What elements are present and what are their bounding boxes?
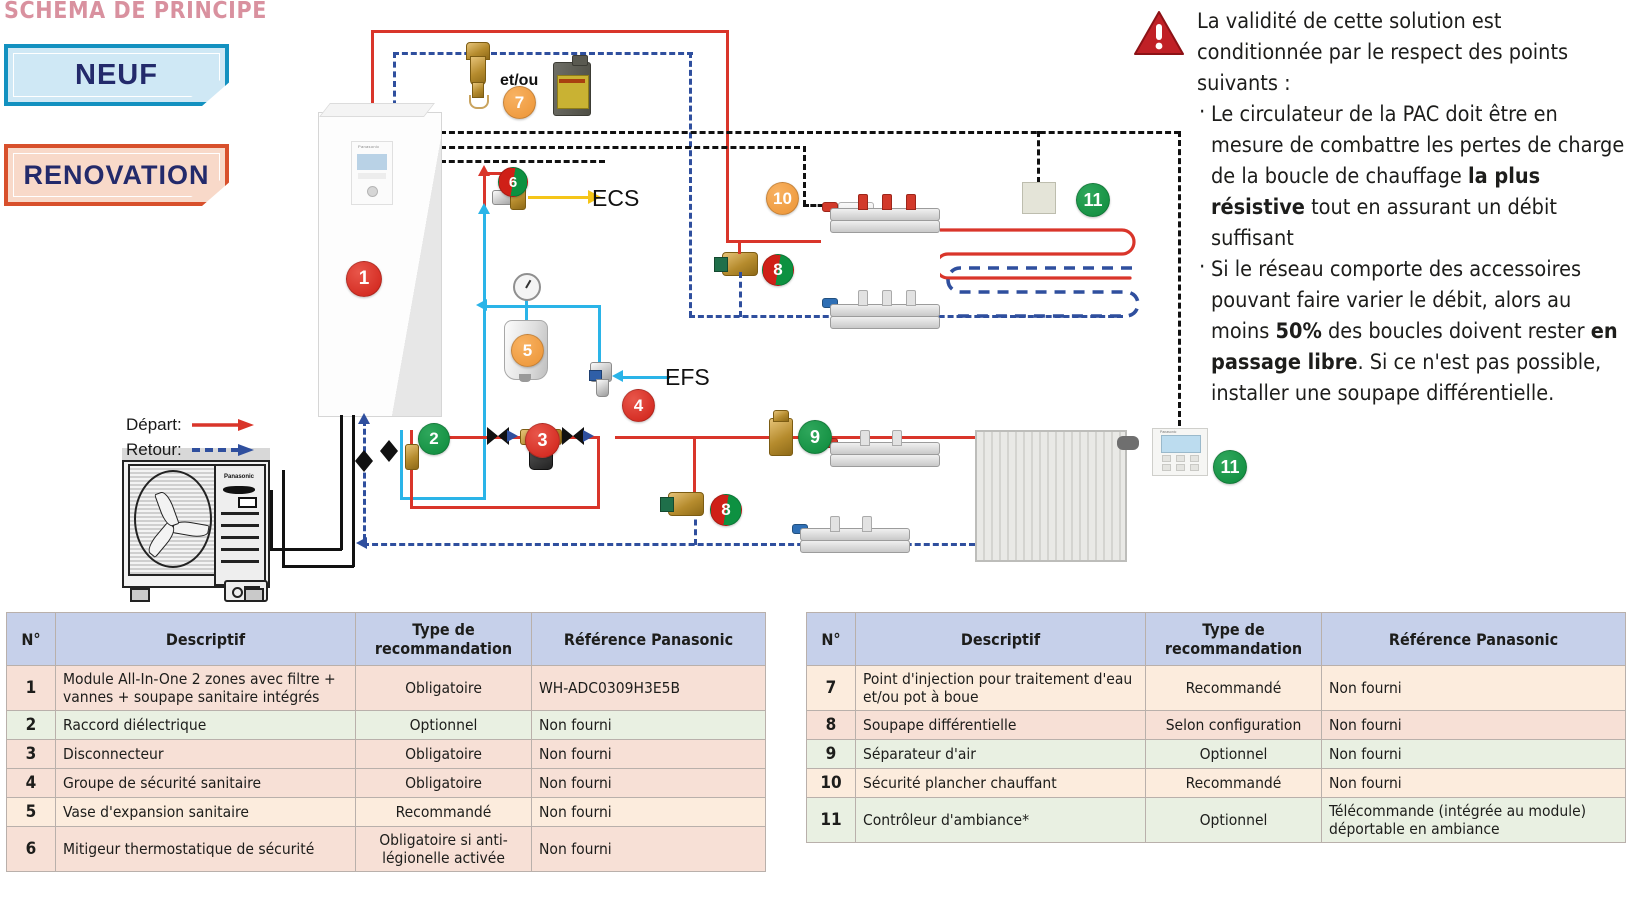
controller-button-6[interactable] bbox=[1190, 464, 1199, 471]
table-row: 11Contrôleur d'ambiance*OptionnelTélécom… bbox=[807, 798, 1626, 843]
th-right-rec: Type derecommandation bbox=[1146, 613, 1322, 666]
legend-row-retour: Retour: bbox=[126, 437, 254, 462]
th-left-num: N° bbox=[7, 613, 56, 666]
cell-rec: Recommandé bbox=[1146, 666, 1322, 711]
th-right-ref: Référence Panasonic bbox=[1322, 613, 1626, 666]
legend-retour-label: Retour: bbox=[126, 437, 188, 462]
outdoor-unit-brand-label: Panasonic bbox=[224, 474, 254, 480]
dirt-separator-loop bbox=[469, 95, 489, 109]
legend-row-depart: Départ: bbox=[126, 412, 254, 437]
arrow-return-left-bottom bbox=[356, 537, 367, 549]
arrow-efs-left bbox=[612, 370, 623, 382]
table-left-body: 1Module All-In-One 2 zones avec filtre +… bbox=[7, 666, 766, 872]
badge-11b: 11 bbox=[1213, 450, 1247, 484]
cell-desc: Contrôleur d'ambiance* bbox=[856, 798, 1146, 843]
legend-depart-label: Départ: bbox=[126, 412, 188, 437]
water-treatment-bottle bbox=[553, 62, 591, 116]
cell-ref: Non fourni bbox=[532, 827, 766, 872]
th-right-desc: Descriptif bbox=[856, 613, 1146, 666]
tag-renovation: RENOVATION bbox=[4, 144, 229, 206]
badge-9: 9 bbox=[798, 420, 832, 454]
pipe-heat-red-lower-left bbox=[410, 506, 600, 509]
safety-group-drain bbox=[596, 379, 609, 397]
cell-num: 8 bbox=[807, 711, 856, 740]
pipe-return-blue-vertical-right bbox=[689, 52, 692, 317]
cell-num: 6 bbox=[7, 827, 56, 872]
manifold-return-bar-bottom bbox=[830, 316, 940, 329]
badge-3: 3 bbox=[525, 423, 560, 458]
arrow-return-up-left bbox=[358, 413, 370, 424]
manifold-flow-port-3 bbox=[906, 194, 916, 210]
cell-num: 10 bbox=[807, 769, 856, 798]
pipe-hp-black-bottom-1 bbox=[282, 565, 354, 568]
aio-brand-label: Panasonic bbox=[358, 144, 379, 149]
cell-rec: Obligatoire si anti-légionelle activée bbox=[356, 827, 532, 872]
cell-ref: Non fourni bbox=[532, 769, 766, 798]
tag-neuf-label: NEUF bbox=[75, 59, 158, 92]
wiring-dashed-to-controller bbox=[1178, 131, 1181, 426]
pipe-cold-cyan-horizontal bbox=[483, 305, 601, 308]
cell-num: 1 bbox=[7, 666, 56, 711]
controller-display bbox=[1161, 435, 1201, 453]
arrow-cold-up bbox=[478, 203, 490, 214]
th-left-rec: Type derecommandation bbox=[356, 613, 532, 666]
cell-rec: Recommandé bbox=[1146, 769, 1322, 798]
th-left-ref: Référence Panasonic bbox=[532, 613, 766, 666]
cell-ref: Télécommande (intégrée au module) déport… bbox=[1322, 798, 1626, 843]
pipe-return-blue-left-riser bbox=[363, 420, 366, 540]
cell-ref: Non fourni bbox=[532, 798, 766, 827]
outdoor-unit-fan bbox=[134, 470, 212, 568]
pipe-heat-red-riser-mid bbox=[597, 436, 600, 508]
legend-retour-arrow-icon bbox=[192, 443, 254, 457]
cell-ref: Non fourni bbox=[1322, 769, 1626, 798]
manifold-radiator-flow bbox=[830, 436, 938, 462]
badge-2: 2 bbox=[418, 423, 450, 455]
label-efs: EFS bbox=[665, 364, 710, 391]
table-left: N° Descriptif Type derecommandation Réfé… bbox=[6, 612, 766, 872]
cell-rec: Selon configuration bbox=[1146, 711, 1322, 740]
cell-desc: Séparateur d'air bbox=[856, 740, 1146, 769]
table-row: 4Groupe de sécurité sanitaireObligatoire… bbox=[7, 769, 766, 798]
table-row: 2Raccord diélectriqueOptionnelNon fourni bbox=[7, 711, 766, 740]
wiring-dashed-1 bbox=[440, 131, 1180, 134]
table-row: 1Module All-In-One 2 zones avec filtre +… bbox=[7, 666, 766, 711]
table-row: 7Point d'injection pour traitement d'eau… bbox=[807, 666, 1626, 711]
controller-button-3[interactable] bbox=[1190, 455, 1199, 462]
cell-ref: Non fourni bbox=[1322, 666, 1626, 711]
butterfly-valve-right-a bbox=[562, 427, 573, 445]
wiring-dashed-2 bbox=[440, 146, 800, 149]
radiator bbox=[975, 430, 1127, 562]
cell-desc: Mitigeur thermostatique de sécurité bbox=[56, 827, 356, 872]
cell-num: 11 bbox=[807, 798, 856, 843]
table-right-body: 7Point d'injection pour traitement d'eau… bbox=[807, 666, 1626, 843]
cell-desc: Point d'injection pour traitement d'eau … bbox=[856, 666, 1146, 711]
room-sensor-box bbox=[1022, 182, 1056, 214]
legend-depart-arrow-icon bbox=[192, 418, 254, 432]
butterfly-valve-left-a bbox=[487, 427, 498, 445]
manifold-ufh-flow bbox=[830, 196, 938, 228]
pressure-gauge bbox=[513, 273, 541, 301]
label-ecs: ECS bbox=[592, 185, 639, 212]
cell-ref: Non fourni bbox=[1322, 740, 1626, 769]
table-right: N° Descriptif Type derecommandation Réfé… bbox=[806, 612, 1626, 843]
arrow-small-blue-2 bbox=[583, 430, 594, 442]
pipe-hp-black-bottom-2 bbox=[270, 548, 342, 551]
badge-7: 7 bbox=[503, 86, 536, 119]
manifold-rad-flow-port-1 bbox=[860, 430, 870, 446]
wall-controller: Panasonic bbox=[1152, 428, 1208, 476]
warning-bullet-list: Le circulateur de la PAC doit être en me… bbox=[1197, 99, 1625, 409]
warning-triangle-icon bbox=[1133, 10, 1185, 58]
ufh-loop-blue bbox=[940, 256, 1145, 326]
wiring-dashed-to-floor-safety bbox=[803, 146, 806, 206]
badge-8b: 8 bbox=[710, 494, 742, 526]
badge-6: 6 bbox=[498, 167, 528, 197]
cell-num: 4 bbox=[7, 769, 56, 798]
controller-button-2[interactable] bbox=[1176, 455, 1185, 462]
manifold-rad-return-port-1 bbox=[830, 516, 840, 532]
pipe-heat-red-to-diffvalve bbox=[693, 436, 696, 492]
cell-desc: Raccord diélectrique bbox=[56, 711, 356, 740]
cell-desc: Module All-In-One 2 zones avec filtre + … bbox=[56, 666, 356, 711]
cell-num: 7 bbox=[807, 666, 856, 711]
controller-button-5[interactable] bbox=[1176, 464, 1185, 471]
pipe-return-blue-top bbox=[393, 52, 693, 55]
warning-intro: La validité de cette solution est condit… bbox=[1197, 6, 1625, 99]
manifold-flow-bar-bottom bbox=[830, 220, 940, 233]
pipe-cold-cyan-riser-upper bbox=[483, 210, 486, 310]
table-row: 9Séparateur d'airOptionnelNon fourni bbox=[807, 740, 1626, 769]
legend: Départ: Retour: bbox=[126, 412, 254, 462]
air-separator-body bbox=[769, 418, 793, 456]
cell-rec: Optionnel bbox=[1146, 798, 1322, 843]
th-left-desc: Descriptif bbox=[56, 613, 356, 666]
cell-desc: Sécurité plancher chauffant bbox=[856, 769, 1146, 798]
badge-1: 1 bbox=[346, 261, 382, 297]
cell-ref: Non fourni bbox=[532, 740, 766, 769]
pipe-ecs-yellow bbox=[528, 196, 590, 199]
badge-11: 11 bbox=[1076, 183, 1110, 217]
manifold-flow-port-1 bbox=[858, 194, 868, 210]
pipe-hp-black-2 bbox=[352, 415, 355, 567]
manifold-ufh-return bbox=[830, 292, 938, 324]
pipe-efs-cyan bbox=[620, 376, 670, 379]
table-right-header-row: N° Descriptif Type derecommandation Réfé… bbox=[807, 613, 1626, 666]
cell-ref: Non fourni bbox=[1322, 711, 1626, 740]
dielectric-union-brass bbox=[405, 444, 419, 470]
cell-num: 9 bbox=[807, 740, 856, 769]
cell-rec: Optionnel bbox=[1146, 740, 1322, 769]
pipe-hp-black-1 bbox=[282, 470, 285, 568]
tag-renovation-label: RENOVATION bbox=[23, 160, 209, 191]
manifold-rad-return-port-2 bbox=[862, 516, 872, 532]
warning-bullet-1: Le circulateur de la PAC doit être en me… bbox=[1197, 99, 1625, 254]
pipe-flow-red-vertical-right bbox=[726, 30, 729, 240]
cell-rec: Recommandé bbox=[356, 798, 532, 827]
controller-button-4[interactable] bbox=[1162, 464, 1171, 471]
table-row: 6Mitigeur thermostatique de sécuritéObli… bbox=[7, 827, 766, 872]
badge-5: 5 bbox=[511, 334, 544, 367]
pipe-red-upper-branch bbox=[726, 240, 821, 243]
cell-desc: Disconnecteur bbox=[56, 740, 356, 769]
controller-brand-label: Panasonic bbox=[1160, 430, 1176, 434]
warning-bullet-2: Si le réseau comporte des accessoires po… bbox=[1197, 254, 1625, 409]
th-right-num: N° bbox=[807, 613, 856, 666]
manifold-return-port-3 bbox=[906, 290, 916, 306]
manifold-rad-flow-port-2 bbox=[892, 430, 902, 446]
pipe-hp-black-3 bbox=[270, 490, 273, 550]
differential-valve-upper-cap bbox=[714, 257, 728, 272]
warning-panel: La validité de cette solution est condit… bbox=[1133, 6, 1625, 409]
table-row: 5Vase d'expansion sanitaireRecommandéNon… bbox=[7, 798, 766, 827]
aio-display bbox=[357, 154, 387, 170]
manifold-return-port-1 bbox=[858, 290, 868, 306]
controller-button-1[interactable] bbox=[1162, 455, 1171, 462]
pipe-cold-cyan-bottom-riser bbox=[400, 430, 403, 498]
cell-rec: Obligatoire bbox=[356, 769, 532, 798]
cell-num: 3 bbox=[7, 740, 56, 769]
radiator-thermostatic-valve bbox=[1117, 436, 1139, 450]
air-separator-vent bbox=[773, 410, 789, 422]
outdoor-heat-pump-unit: Panasonic bbox=[122, 448, 270, 588]
aio-module: Panasonic bbox=[318, 112, 442, 417]
cell-num: 2 bbox=[7, 711, 56, 740]
manifold-return-port-2 bbox=[882, 290, 892, 306]
warning-text: La validité de cette solution est condit… bbox=[1197, 6, 1625, 409]
table-row: 8Soupape différentielleSelon configurati… bbox=[807, 711, 1626, 740]
cell-desc: Groupe de sécurité sanitaire bbox=[56, 769, 356, 798]
pipe-flow-red-top bbox=[371, 30, 729, 33]
table-row: 3DisconnecteurObligatoireNon fourni bbox=[7, 740, 766, 769]
badge-10: 10 bbox=[766, 182, 799, 215]
cell-rec: Optionnel bbox=[356, 711, 532, 740]
pipe-hp-black-4 bbox=[340, 415, 343, 550]
cell-desc: Soupape différentielle bbox=[856, 711, 1146, 740]
aio-knob bbox=[367, 186, 378, 197]
outdoor-unit-side-panel: Panasonic bbox=[214, 464, 266, 586]
wiring-dashed-to-sensor bbox=[1037, 131, 1040, 183]
aio-control-panel: Panasonic bbox=[351, 141, 393, 205]
manifold-flow-port-2 bbox=[882, 194, 892, 210]
page-title: SCHEMA DE PRINCIPE bbox=[4, 0, 267, 24]
manifold-rad-return-bar-bottom bbox=[800, 540, 910, 553]
aio-buttons-row bbox=[358, 173, 386, 179]
table-left-header-row: N° Descriptif Type derecommandation Réfé… bbox=[7, 613, 766, 666]
arrow-small-blue-1 bbox=[507, 430, 518, 442]
pipe-cold-to-safety-group bbox=[598, 305, 601, 363]
table-row: 10Sécurité plancher chauffantRecommandéN… bbox=[807, 769, 1626, 798]
tag-neuf: NEUF bbox=[4, 44, 229, 106]
cell-rec: Obligatoire bbox=[356, 666, 532, 711]
wiring-dashed-3 bbox=[440, 160, 605, 163]
cell-ref: WH-ADC0309H3E5B bbox=[532, 666, 766, 711]
cell-rec: Obligatoire bbox=[356, 740, 532, 769]
manifold-rad-flow-bar-bottom bbox=[830, 454, 940, 467]
badge-4: 4 bbox=[622, 389, 655, 422]
pipe-blue-from-diffvalve-upper bbox=[739, 272, 742, 317]
cell-desc: Vase d'expansion sanitaire bbox=[56, 798, 356, 827]
expansion-vessel-foot bbox=[519, 374, 531, 382]
pipe-cold-cyan-lower bbox=[483, 305, 486, 500]
differential-valve-lower-cap bbox=[660, 497, 674, 512]
cell-num: 5 bbox=[7, 798, 56, 827]
badge-8: 8 bbox=[762, 254, 794, 286]
cell-ref: Non fourni bbox=[532, 711, 766, 740]
outdoor-unit-feet bbox=[126, 588, 266, 598]
manifold-radiator-return bbox=[800, 522, 908, 548]
